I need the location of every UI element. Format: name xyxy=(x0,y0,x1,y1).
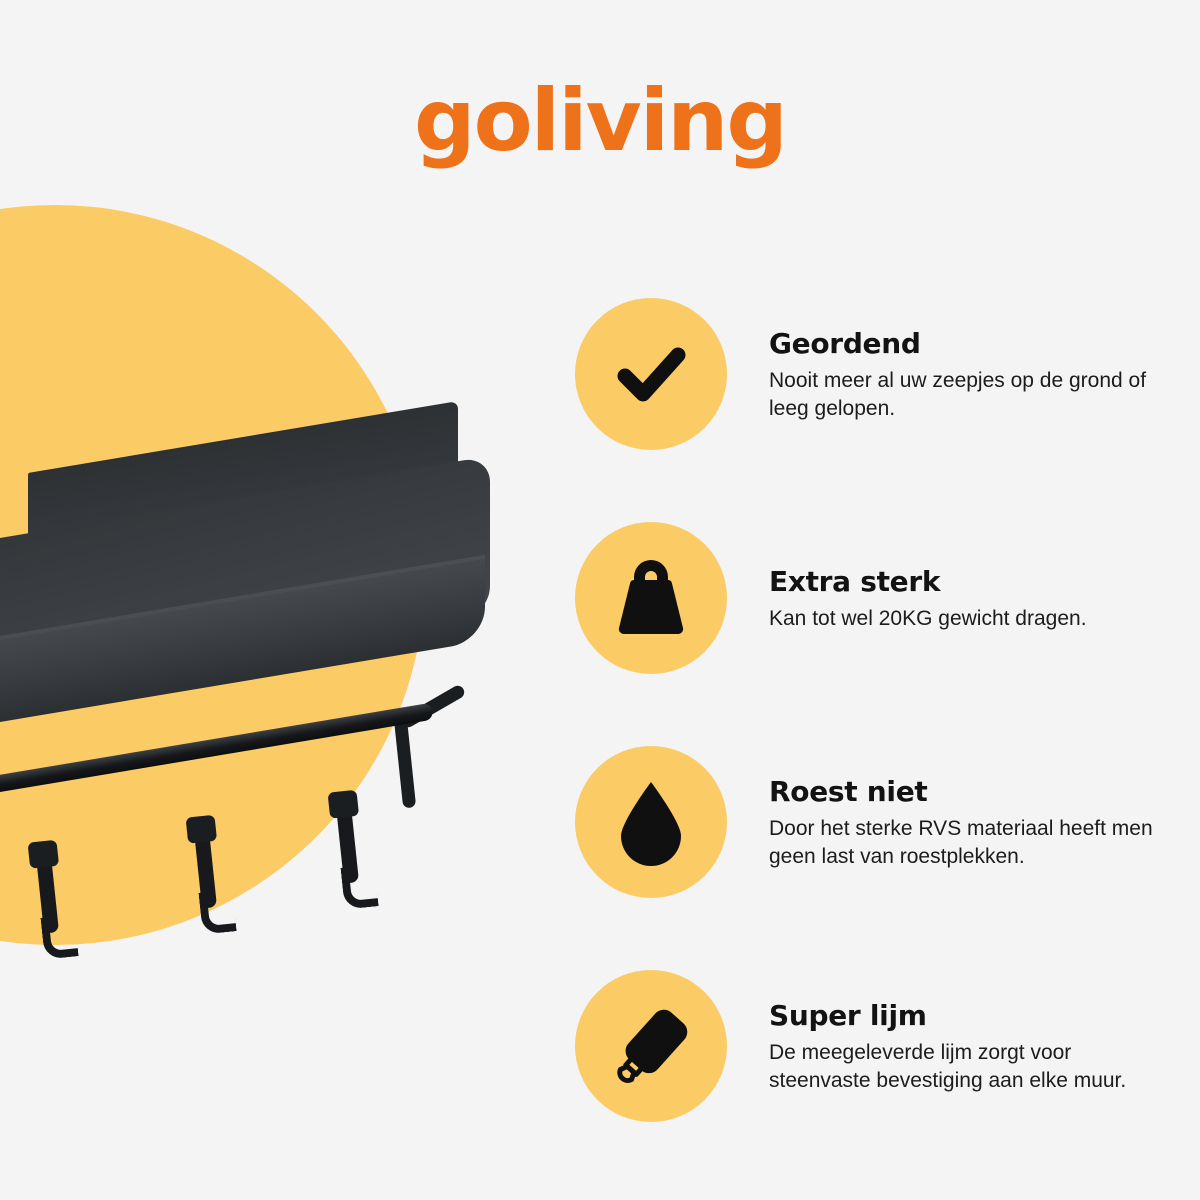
brand-logo-text: goliving xyxy=(414,78,786,164)
feature-text: Extra sterk Kan tot wel 20KG gewicht dra… xyxy=(769,564,1087,633)
check-icon xyxy=(575,298,727,450)
feature-item: Extra sterk Kan tot wel 20KG gewicht dra… xyxy=(575,522,1195,674)
feature-item: Roest niet Door het sterke RVS materiaal… xyxy=(575,746,1195,898)
feature-title: Roest niet xyxy=(769,776,1153,808)
feature-description: De meegeleverde lijm zorgt voor steenvas… xyxy=(769,1039,1126,1094)
feature-title: Super lijm xyxy=(769,1000,1126,1032)
brand-logo: goliving xyxy=(0,78,1200,164)
feature-description: Door het sterke RVS materiaal heeft men … xyxy=(769,815,1153,870)
weight-icon xyxy=(575,522,727,674)
feature-text: Geordend Nooit meer al uw zeepjes op de … xyxy=(769,326,1146,423)
feature-description: Kan tot wel 20KG gewicht dragen. xyxy=(769,605,1087,633)
feature-title: Extra sterk xyxy=(769,566,1087,598)
glue-bottle-icon xyxy=(575,970,727,1122)
product-image xyxy=(0,455,560,975)
feature-description: Nooit meer al uw zeepjes op de grond of … xyxy=(769,367,1146,422)
feature-item: Super lijm De meegeleverde lijm zorgt vo… xyxy=(575,970,1195,1122)
feature-list: Geordend Nooit meer al uw zeepjes op de … xyxy=(575,298,1195,1122)
water-drop-icon xyxy=(575,746,727,898)
feature-text: Roest niet Door het sterke RVS materiaal… xyxy=(769,774,1153,871)
feature-item: Geordend Nooit meer al uw zeepjes op de … xyxy=(575,298,1195,450)
feature-title: Geordend xyxy=(769,328,1146,360)
feature-text: Super lijm De meegeleverde lijm zorgt vo… xyxy=(769,998,1126,1095)
